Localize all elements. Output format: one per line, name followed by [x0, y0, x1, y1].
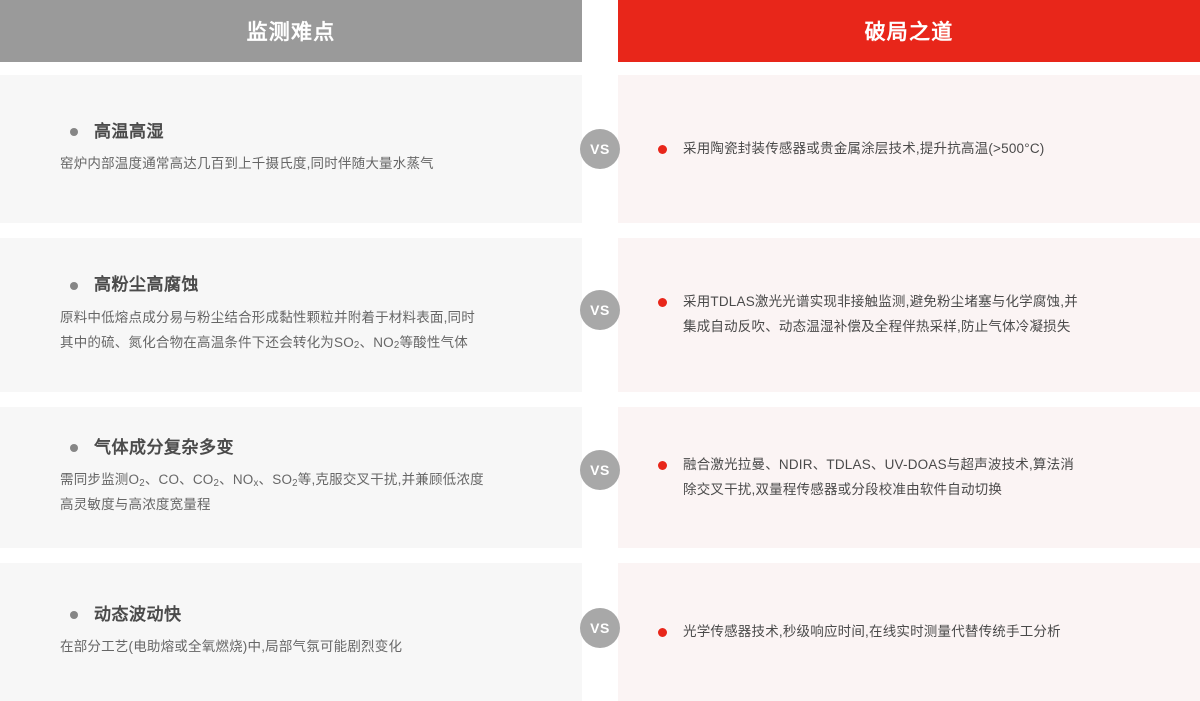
- problem-description: 在部分工艺(电助熔或全氧燃烧)中,局部气氛可能剧烈变化: [60, 635, 488, 660]
- solution-text: 采用陶瓷封装传感器或贵金属涂层技术,提升抗高温(>500°C): [683, 137, 1045, 162]
- problem-title-row-2: 高粉尘高腐蚀: [70, 274, 488, 296]
- problem-title-row-4: 动态波动快: [70, 604, 488, 626]
- solution-card-3: 融合激光拉曼、NDIR、TDLAS、UV-DOAS与超声波技术,算法消除交叉干扰…: [618, 407, 1200, 548]
- problem-description: 需同步监测O2、CO、CO2、NOx、SO2等,克服交叉干扰,并兼顾低浓度高灵敏…: [60, 468, 488, 518]
- problem-card-1: 高温高湿 窑炉内部温度通常高达几百到上千摄氏度,同时伴随大量水蒸气: [0, 75, 582, 223]
- solution-text: 采用TDLAS激光光谱实现非接触监测,避免粉尘堵塞与化学腐蚀,并集成自动反吹、动…: [683, 290, 1087, 340]
- header-problems: 监测难点: [0, 0, 582, 62]
- vs-badge-4: VS: [580, 608, 620, 648]
- bullet-dot-red-icon: [658, 298, 667, 307]
- bullet-dot-red-icon: [658, 628, 667, 637]
- solution-line: 采用TDLAS激光光谱实现非接触监测,避免粉尘堵塞与化学腐蚀,并集成自动反吹、动…: [658, 290, 1140, 340]
- solution-card-2: 采用TDLAS激光光谱实现非接触监测,避免粉尘堵塞与化学腐蚀,并集成自动反吹、动…: [618, 238, 1200, 392]
- bullet-dot-icon: [70, 128, 78, 136]
- solution-line: 光学传感器技术,秒级响应时间,在线实时测量代替传统手工分析: [658, 620, 1140, 645]
- comparison-row-1: 高温高湿 窑炉内部温度通常高达几百到上千摄氏度,同时伴随大量水蒸气 VS 采用陶…: [0, 75, 1200, 223]
- vs-badge-2: VS: [580, 290, 620, 330]
- comparison-row-3: 气体成分复杂多变 需同步监测O2、CO、CO2、NOx、SO2等,克服交叉干扰,…: [0, 407, 1200, 548]
- problem-description: 窑炉内部温度通常高达几百到上千摄氏度,同时伴随大量水蒸气: [60, 152, 488, 177]
- comparison-row-2: 高粉尘高腐蚀 原料中低熔点成分易与粉尘结合形成黏性颗粒并附着于材料表面,同时其中…: [0, 238, 1200, 392]
- problem-card-3: 气体成分复杂多变 需同步监测O2、CO、CO2、NOx、SO2等,克服交叉干扰,…: [0, 407, 582, 548]
- bullet-dot-icon: [70, 611, 78, 619]
- header-row: 监测难点 破局之道: [0, 0, 1200, 62]
- problem-title: 动态波动快: [94, 604, 182, 626]
- vs-badge-1: VS: [580, 129, 620, 169]
- problem-title-row-1: 高温高湿: [70, 121, 488, 143]
- problem-description: 原料中低熔点成分易与粉尘结合形成黏性颗粒并附着于材料表面,同时其中的硫、氮化合物…: [60, 306, 488, 356]
- header-solutions: 破局之道: [618, 0, 1200, 62]
- bullet-dot-red-icon: [658, 461, 667, 470]
- problem-title: 气体成分复杂多变: [94, 437, 234, 459]
- comparison-board: 监测难点 破局之道 高温高湿 窑炉内部温度通常高达几百到上千摄氏度,同时伴随大量…: [0, 0, 1200, 701]
- problem-title: 高温高湿: [94, 121, 164, 143]
- problem-card-2: 高粉尘高腐蚀 原料中低熔点成分易与粉尘结合形成黏性颗粒并附着于材料表面,同时其中…: [0, 238, 582, 392]
- bullet-dot-red-icon: [658, 145, 667, 154]
- solution-card-4: 光学传感器技术,秒级响应时间,在线实时测量代替传统手工分析: [618, 563, 1200, 701]
- solution-text: 光学传感器技术,秒级响应时间,在线实时测量代替传统手工分析: [683, 620, 1061, 645]
- bullet-dot-icon: [70, 282, 78, 290]
- solution-text: 融合激光拉曼、NDIR、TDLAS、UV-DOAS与超声波技术,算法消除交叉干扰…: [683, 453, 1087, 503]
- bullet-dot-icon: [70, 444, 78, 452]
- solution-line: 融合激光拉曼、NDIR、TDLAS、UV-DOAS与超声波技术,算法消除交叉干扰…: [658, 453, 1140, 503]
- comparison-row-4: 动态波动快 在部分工艺(电助熔或全氧燃烧)中,局部气氛可能剧烈变化 VS 光学传…: [0, 563, 1200, 701]
- problem-title-row-3: 气体成分复杂多变: [70, 437, 488, 459]
- problem-title: 高粉尘高腐蚀: [94, 274, 199, 296]
- solution-line: 采用陶瓷封装传感器或贵金属涂层技术,提升抗高温(>500°C): [658, 137, 1140, 162]
- solution-card-1: 采用陶瓷封装传感器或贵金属涂层技术,提升抗高温(>500°C): [618, 75, 1200, 223]
- vs-badge-3: VS: [580, 450, 620, 490]
- problem-card-4: 动态波动快 在部分工艺(电助熔或全氧燃烧)中,局部气氛可能剧烈变化: [0, 563, 582, 701]
